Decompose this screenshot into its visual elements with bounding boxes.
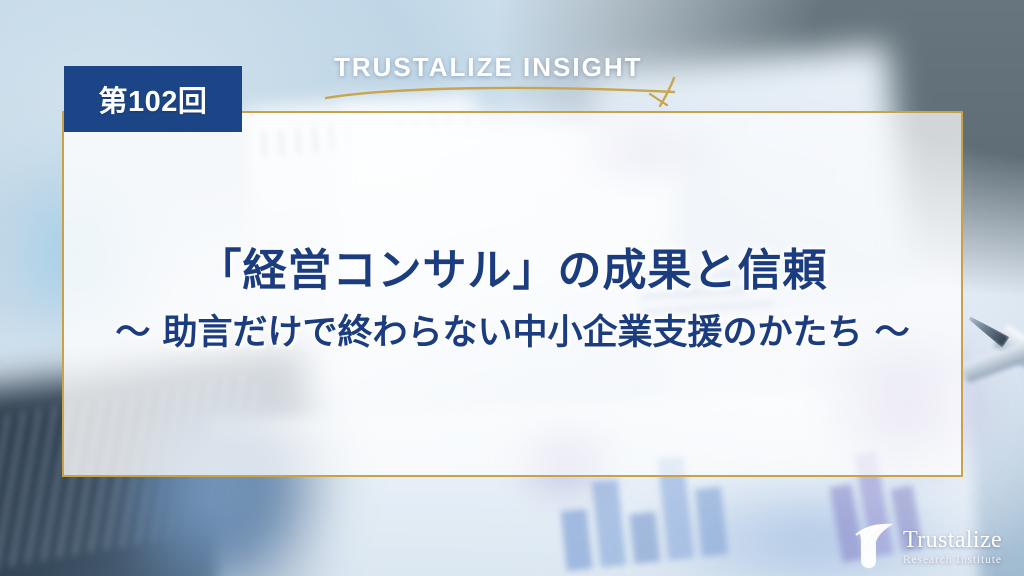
banner-canvas: 第102回 TRUSTALIZE INSIGHT 「経営コンサル」の成果と信頼 … xyxy=(0,0,1024,576)
page-subtitle: ～ 助言だけで終わらない中小企業支援のかたち ～ xyxy=(115,304,909,355)
logo-tagline: Research Institute xyxy=(903,555,1002,567)
title-block: 「経営コンサル」の成果と信頼 ～ 助言だけで終わらない中小企業支援のかたち ～ xyxy=(64,113,961,475)
trustalize-t-mark-icon xyxy=(853,521,897,571)
brand-insight-label: TRUSTALIZE INSIGHT xyxy=(334,52,643,83)
brand-logo: Trustalize Research Institute xyxy=(853,519,1019,573)
logo-name: Trustalize xyxy=(903,528,1002,552)
page-title: 「経営コンサル」の成果と信頼 xyxy=(198,234,828,298)
